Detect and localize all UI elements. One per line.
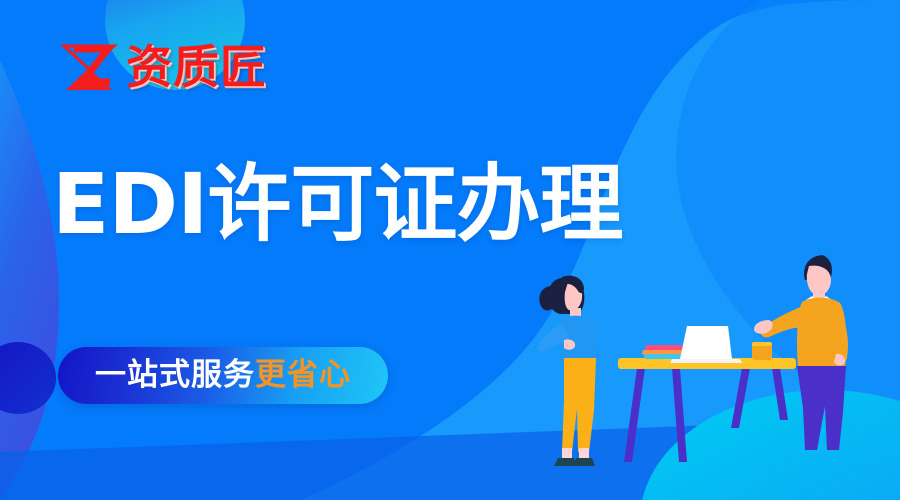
desk-leg-3: [731, 368, 750, 428]
woman-figure: [538, 276, 597, 466]
subtitle-pill[interactable]: 一站式服务更省心: [58, 347, 388, 404]
laptop-keyboard: [670, 359, 742, 363]
book-stack: [642, 345, 686, 359]
woman-ankle-right: [579, 448, 589, 458]
laptop-screen: [680, 326, 732, 359]
woman-ponytail: [539, 286, 555, 311]
promo-banner: 资质匠 EDI许可证办理 一站式服务更省心: [0, 0, 900, 500]
woman-shoe-right: [573, 458, 595, 466]
desk-leg-2: [672, 368, 687, 462]
subtitle-text: 一站式服务更省心: [95, 360, 351, 391]
subtitle-accent: 更省心: [255, 357, 351, 393]
desk-leg-1: [624, 368, 645, 462]
desk-leg-4: [772, 368, 788, 420]
subtitle-primary: 一站式服务: [95, 357, 255, 393]
woman-ankle-left: [562, 448, 572, 458]
laptop: [670, 326, 742, 363]
woman-pants: [562, 358, 596, 452]
page-title: EDI许可证办理: [52, 162, 622, 246]
cup-rim: [752, 342, 772, 346]
desk: [618, 358, 796, 462]
man-pants: [797, 366, 846, 450]
coffee-cup: [752, 342, 772, 360]
office-people-illustration: [520, 240, 900, 500]
woman-shoe-left: [554, 458, 576, 466]
z-hourglass-logo-icon: [58, 36, 120, 98]
brand-name: 资质匠: [126, 44, 267, 90]
brand-logo[interactable]: 资质匠: [58, 36, 267, 98]
book-bottom: [644, 354, 686, 359]
